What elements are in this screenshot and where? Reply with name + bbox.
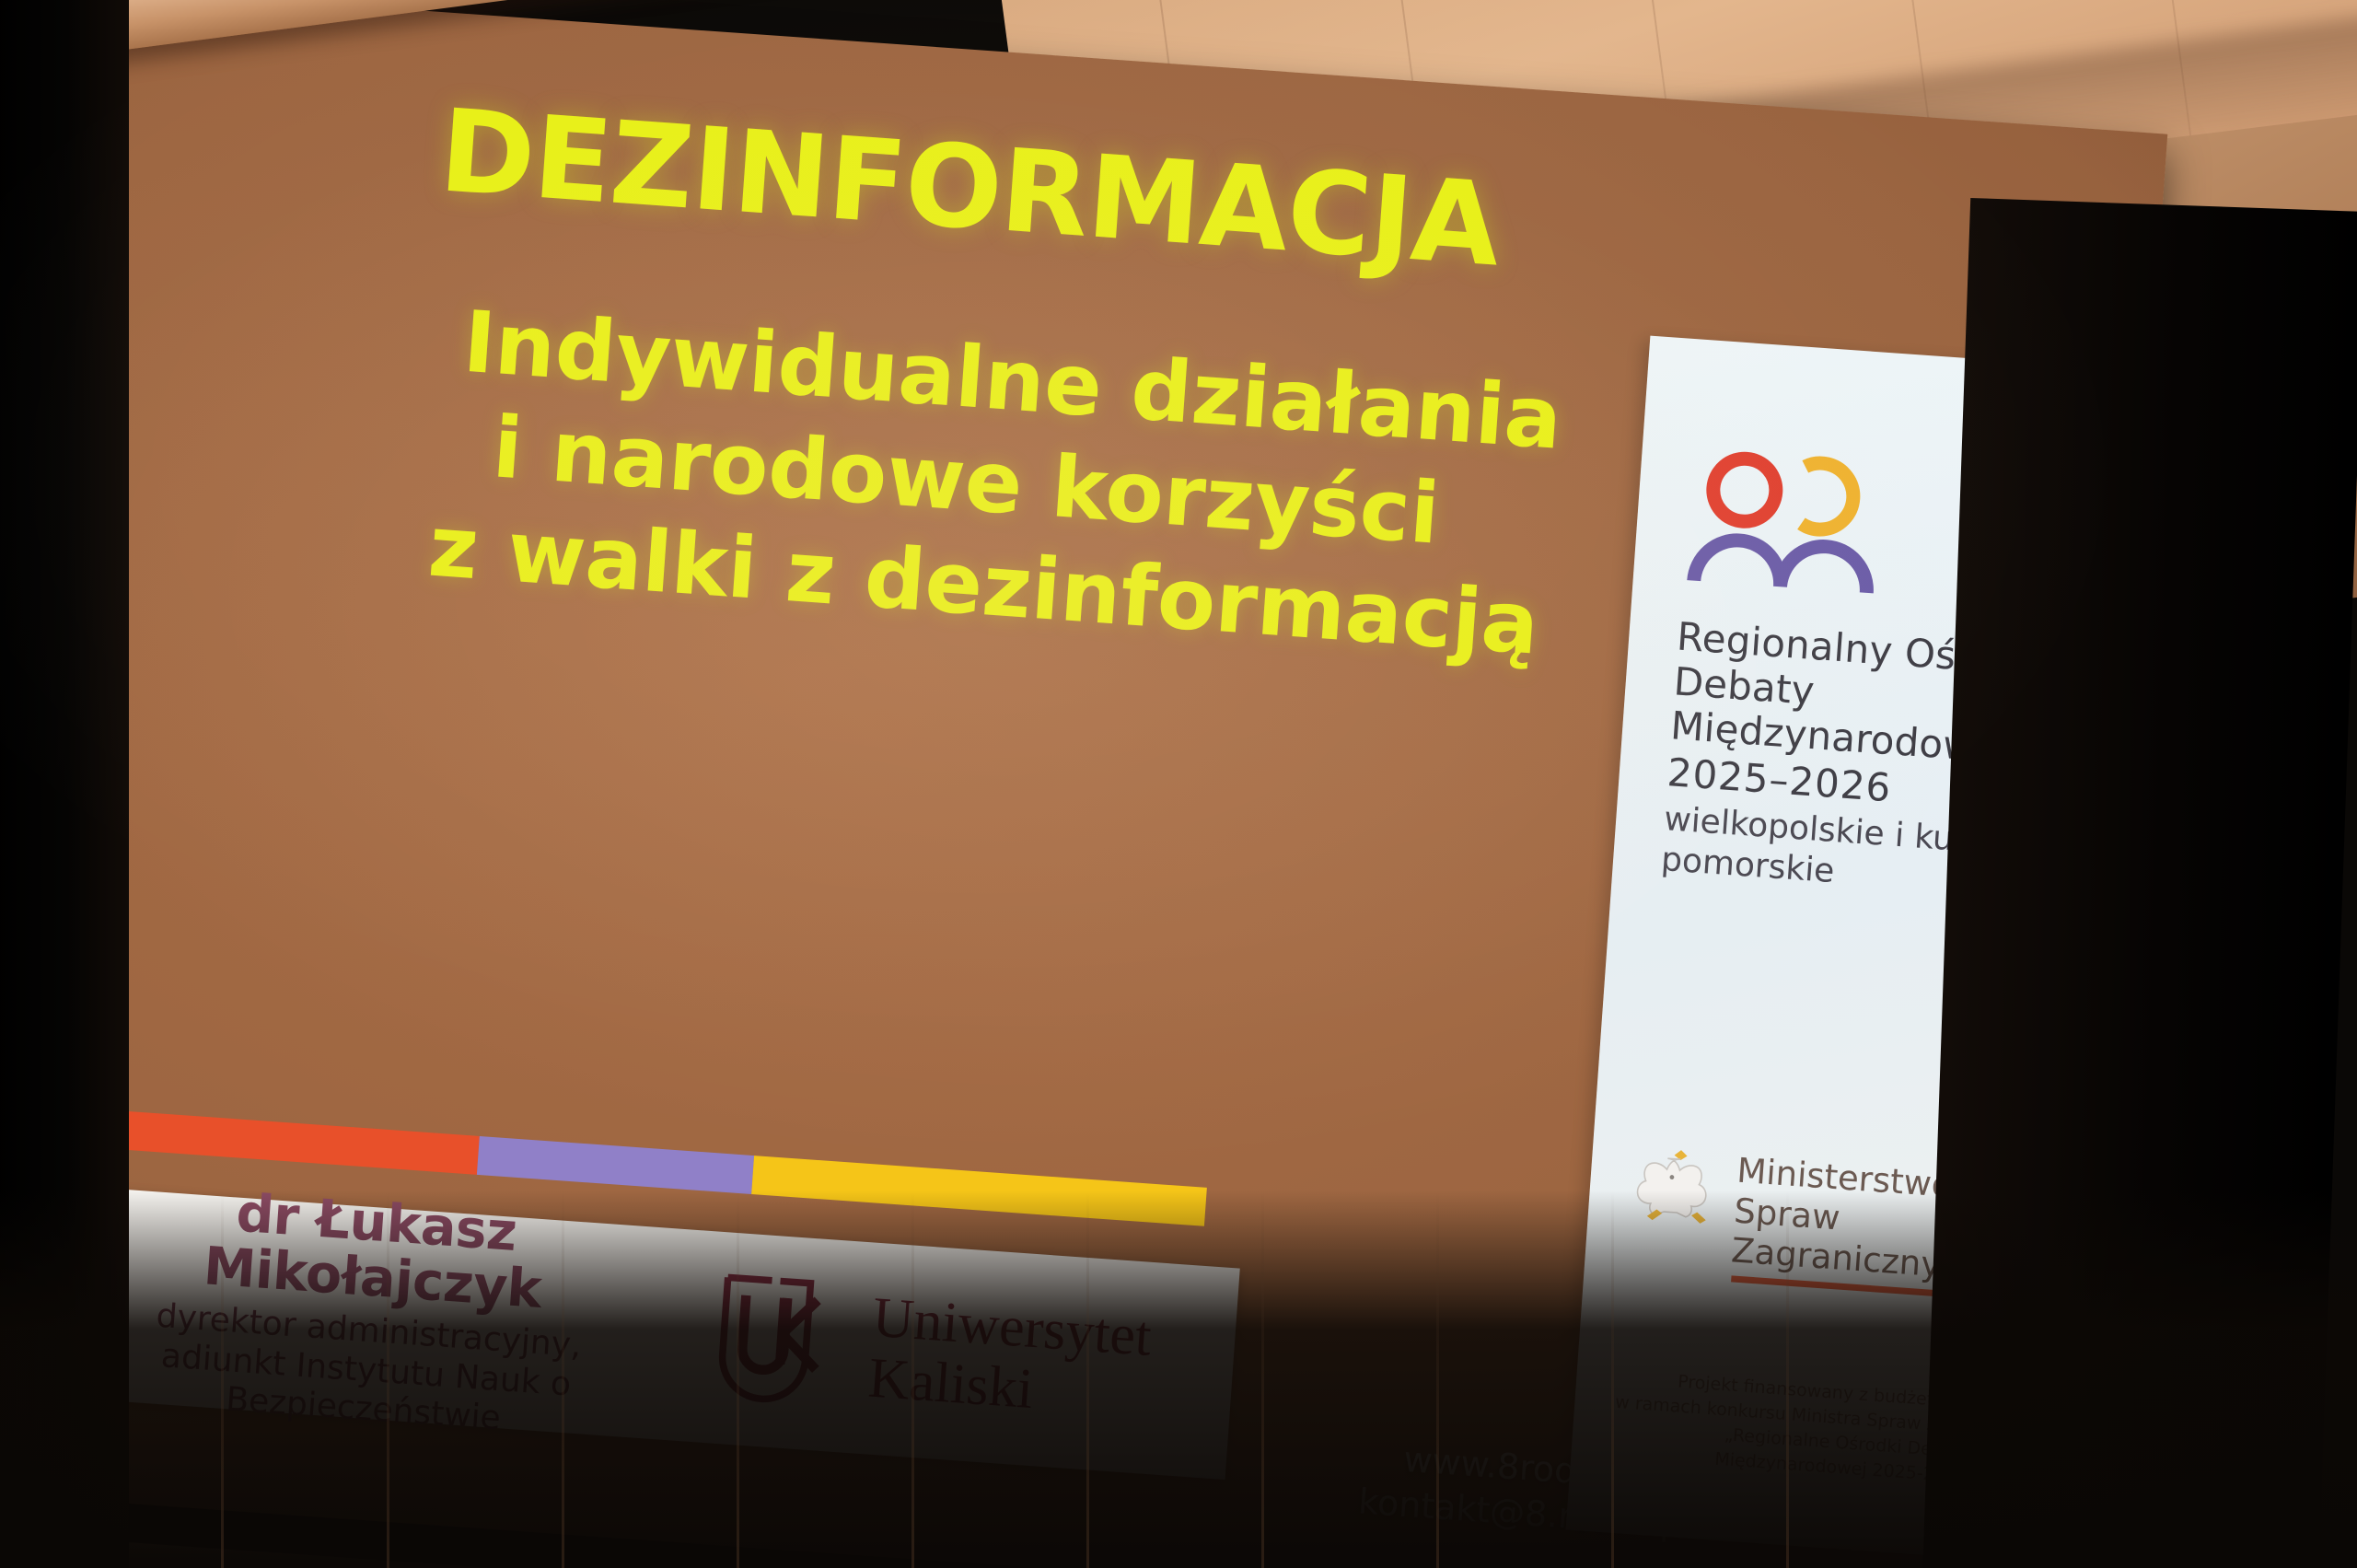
photograph-of-projection-screen: DEZINFORMACJA Indywidualne działania i n… xyxy=(0,0,2357,1568)
slide-subtitle: Indywidualne działania i narodowe korzyś… xyxy=(409,288,1643,683)
rodm-logo-icon xyxy=(1685,442,1907,613)
color-bar-purple-segment xyxy=(477,1136,754,1194)
bottom-curtain xyxy=(0,1191,2357,1568)
slide-title: DEZINFORMACJA xyxy=(436,93,1639,294)
